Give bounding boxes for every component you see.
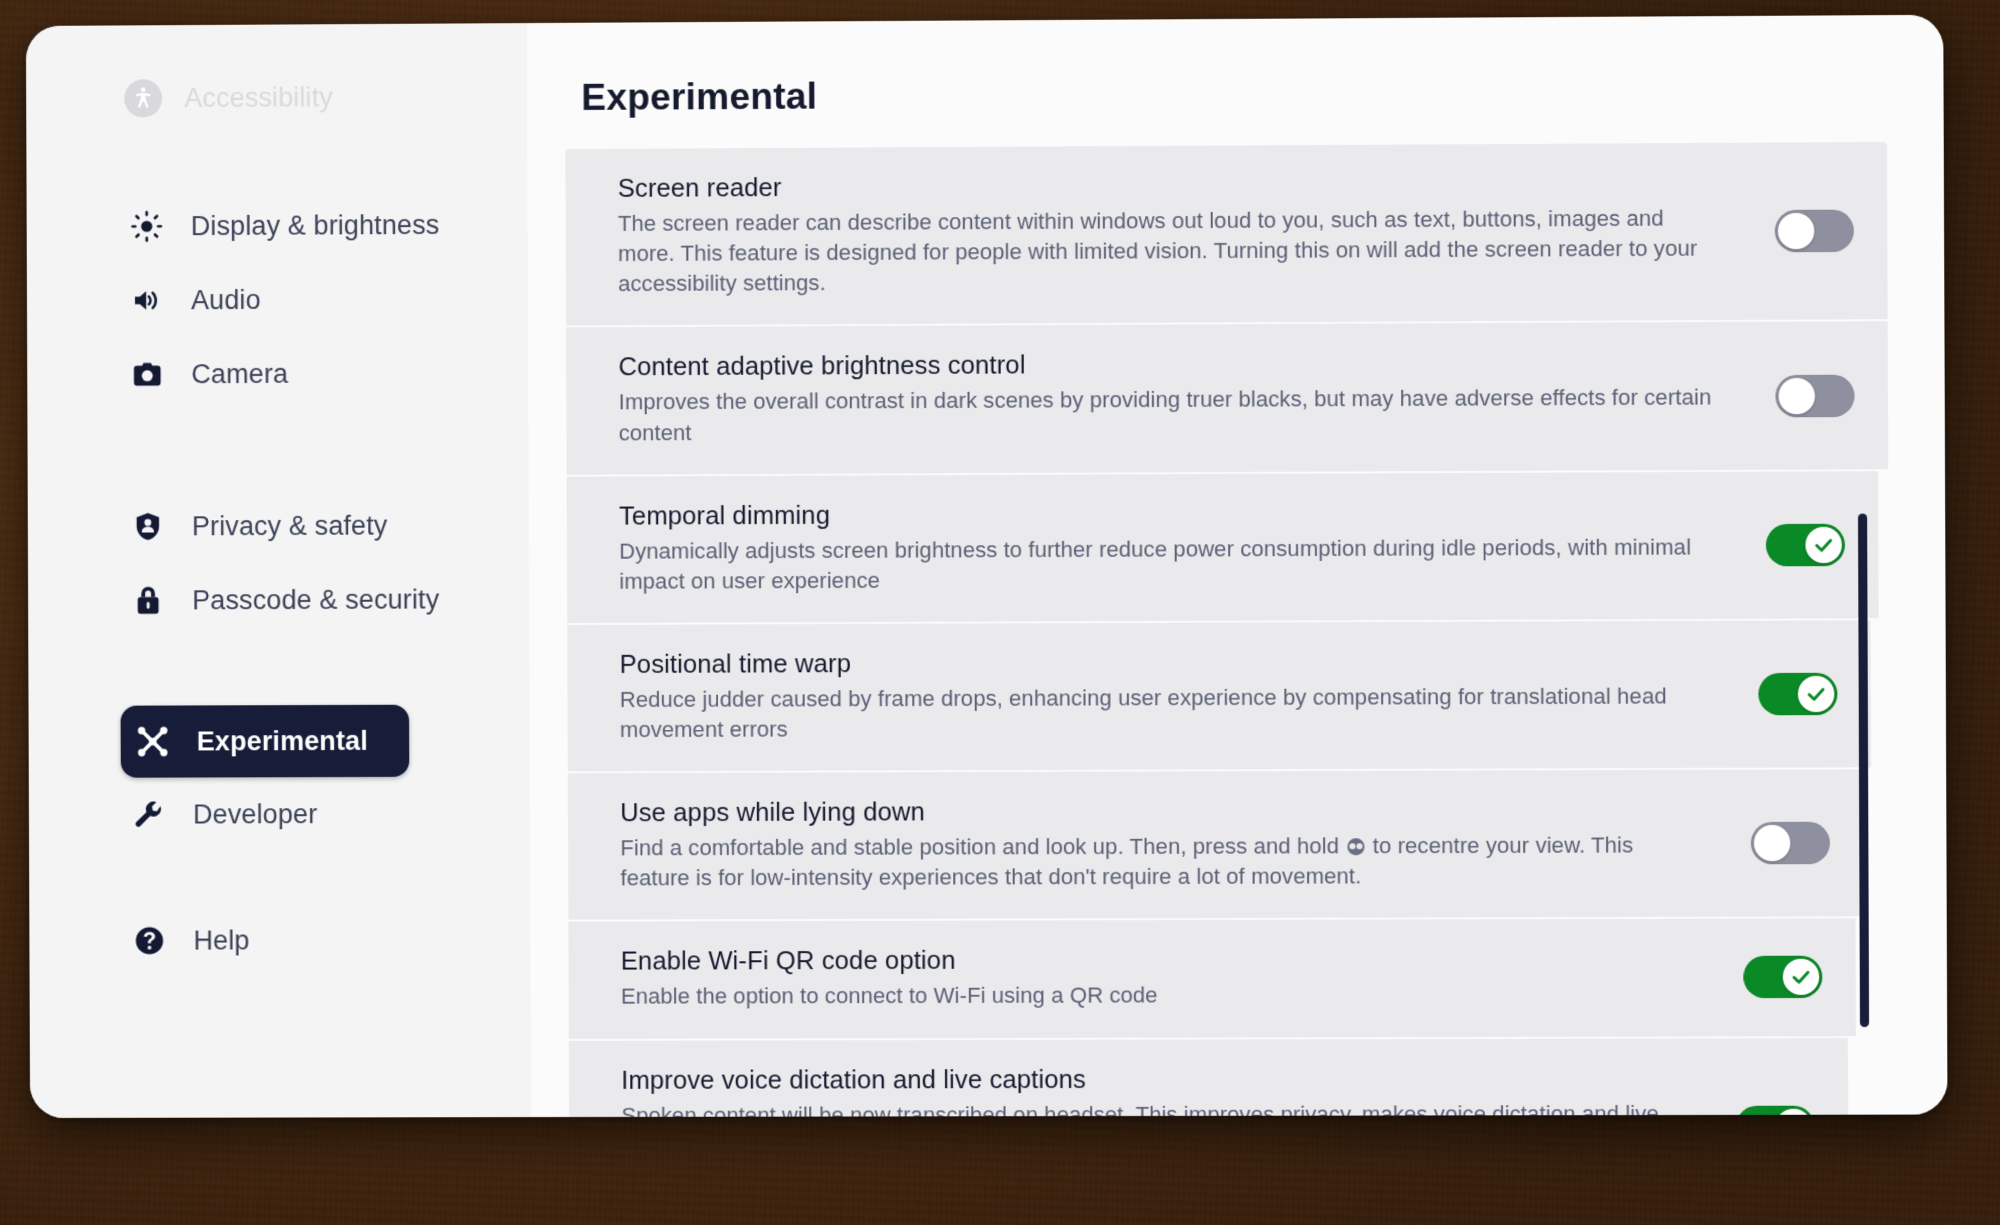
toggle-cell xyxy=(1732,822,1864,865)
sidebar-group-3: Experimental Developer xyxy=(29,704,530,852)
setting-row: Enable Wi-Fi QR code option Enable the o… xyxy=(568,919,1856,1041)
toggle-screen-reader[interactable] xyxy=(1775,210,1854,253)
toggle-knob xyxy=(1778,377,1815,413)
sidebar-item-label: Passcode & security xyxy=(192,584,439,616)
sidebar-group-2: Privacy & safety Passcode & security xyxy=(28,488,529,638)
toggle-cell xyxy=(1739,673,1871,716)
toggle-enable-wifi-qr-code-option[interactable] xyxy=(1743,956,1822,998)
setting-description: The screen reader can describe content w… xyxy=(618,203,1726,299)
settings-window: Accessibility xyxy=(26,15,1948,1118)
setting-row: Screen reader The screen reader can desc… xyxy=(565,142,1887,328)
sidebar-item-label: Experimental xyxy=(197,725,368,757)
setting-row: Temporal dimming Dynamically adjusts scr… xyxy=(567,471,1879,625)
setting-text: Screen reader The screen reader can desc… xyxy=(618,169,1756,300)
toggle-cell xyxy=(1756,374,1888,417)
setting-title: Temporal dimming xyxy=(619,498,1716,532)
lock-icon xyxy=(128,584,168,616)
sidebar-item-label: Developer xyxy=(193,799,317,830)
sidebar-item-help[interactable]: Help xyxy=(117,903,492,978)
setting-row: Use apps while lying down Find a comfort… xyxy=(568,769,1864,922)
speaker-icon xyxy=(127,284,167,316)
setting-row: Positional time warp Reduce judder cause… xyxy=(567,620,1871,773)
sidebar-item-camera[interactable]: Camera xyxy=(115,336,490,412)
sidebar-item-audio[interactable]: Audio xyxy=(115,262,490,338)
setting-text: Temporal dimming Dynamically adjusts scr… xyxy=(619,498,1747,597)
setting-description: Spoken content will be now transcribed o… xyxy=(621,1098,1686,1117)
main-content: Experimental Screen reader The screen re… xyxy=(527,15,1948,1117)
setting-description: Find a comfortable and stable position a… xyxy=(620,830,1701,893)
sidebar-item-label: Camera xyxy=(191,358,288,389)
toggle-knob xyxy=(1754,825,1791,861)
setting-title: Content adaptive brightness control xyxy=(618,349,1725,383)
toggle-cell xyxy=(1724,956,1856,999)
setting-row: Improve voice dictation and live caption… xyxy=(569,1038,1849,1117)
question-circle-icon xyxy=(129,925,169,957)
toggle-improve-voice-dictation-and-live-captions[interactable] xyxy=(1736,1105,1815,1117)
meta-button-icon xyxy=(1347,838,1364,855)
toggle-content-adaptive-brightness-control[interactable] xyxy=(1775,374,1854,417)
setting-title: Enable Wi-Fi QR code option xyxy=(621,945,1694,977)
toggle-knob xyxy=(1798,676,1835,712)
sidebar-item-display-brightness[interactable]: Display & brightness xyxy=(115,188,490,264)
sidebar-item-developer[interactable]: Developer xyxy=(117,777,492,852)
sidebar-item-label: Audio xyxy=(191,284,261,315)
toggle-use-apps-while-lying-down[interactable] xyxy=(1751,822,1830,864)
setting-text: Enable Wi-Fi QR code option Enable the o… xyxy=(621,945,1724,1012)
sidebar-group-1: Display & brightness Audio xyxy=(27,187,529,412)
toggle-temporal-dimming[interactable] xyxy=(1766,523,1845,566)
sidebar-header-label: Accessibility xyxy=(184,82,333,114)
setting-description: Enable the option to connect to Wi-Fi us… xyxy=(621,980,1694,1013)
toggle-knob xyxy=(1783,959,1820,995)
wrench-icon xyxy=(129,799,169,831)
settings-sidebar: Accessibility xyxy=(26,23,531,1118)
setting-title: Use apps while lying down xyxy=(620,796,1701,828)
setting-text: Positional time warp Reduce judder cause… xyxy=(620,647,1740,745)
settings-list: Screen reader The screen reader can desc… xyxy=(565,142,1891,1117)
toggle-cell xyxy=(1716,1105,1848,1117)
experimental-molecule-icon xyxy=(133,725,173,759)
sidebar-header: Accessibility xyxy=(26,71,527,124)
setting-description: Improves the overall contrast in dark sc… xyxy=(619,383,1726,448)
camera-icon xyxy=(127,358,167,390)
sidebar-item-label: Help xyxy=(193,925,249,956)
toggle-knob xyxy=(1805,527,1842,563)
sidebar-item-experimental[interactable]: Experimental xyxy=(121,705,410,778)
setting-row: Content adaptive brightness control Impr… xyxy=(566,322,1888,477)
toggle-positional-time-warp[interactable] xyxy=(1758,673,1837,716)
page-title: Experimental xyxy=(581,69,1943,119)
setting-text: Use apps while lying down Find a comfort… xyxy=(620,796,1732,894)
sidebar-group-4: Help xyxy=(29,903,530,978)
sidebar-item-passcode-security[interactable]: Passcode & security xyxy=(116,562,491,637)
shield-person-icon xyxy=(128,510,168,542)
sidebar-item-label: Privacy & safety xyxy=(192,510,388,542)
setting-description: Reduce judder caused by frame drops, enh… xyxy=(620,681,1709,745)
toggle-knob xyxy=(1775,1108,1812,1117)
toggle-knob xyxy=(1778,213,1815,249)
scrollbar-thumb[interactable] xyxy=(1858,514,1869,1027)
toggle-cell xyxy=(1756,210,1888,253)
setting-title: Improve voice dictation and live caption… xyxy=(621,1064,1686,1095)
sidebar-item-privacy-safety[interactable]: Privacy & safety xyxy=(116,488,491,564)
setting-text: Content adaptive brightness control Impr… xyxy=(618,348,1756,448)
setting-text: Improve voice dictation and live caption… xyxy=(621,1064,1717,1117)
setting-title: Positional time warp xyxy=(620,647,1709,680)
setting-description-part: Find a comfortable and stable position a… xyxy=(620,833,1345,860)
sidebar-item-label: Display & brightness xyxy=(191,209,440,241)
brightness-icon xyxy=(127,210,167,242)
accessibility-icon xyxy=(124,79,162,117)
setting-description: Dynamically adjusts screen brightness to… xyxy=(619,532,1716,597)
setting-title: Screen reader xyxy=(618,169,1725,204)
